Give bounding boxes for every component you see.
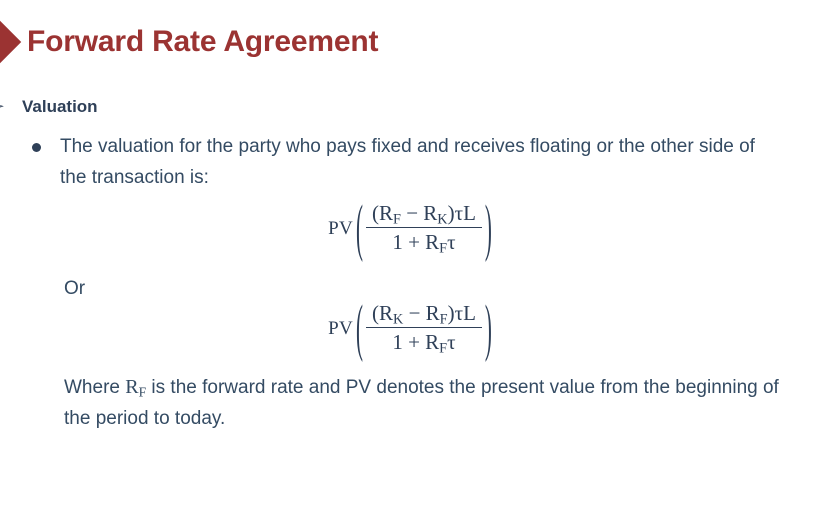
math-denominator: 1 + RFτ — [386, 328, 461, 353]
slide-canvas: { "slide": { "title": "Forward Rate Agre… — [0, 0, 822, 528]
formula-pay-fixed-receive-floating: PV ( (RF − RK)τL 1 + RFτ ) — [0, 203, 822, 253]
denominator-one: 1 — [392, 230, 403, 254]
math-numerator: (RF − RK)τL — [366, 203, 482, 227]
arrow-bullet-icon: ➢ — [0, 99, 8, 115]
numerator-term1-sub: K — [393, 311, 403, 327]
numerator-close-paren: ) — [448, 201, 455, 225]
denominator-one: 1 — [392, 330, 403, 354]
numerator-tau: τ — [455, 201, 463, 225]
connector-or: Or — [64, 274, 85, 305]
math-open-paren: ( — [356, 296, 363, 360]
math-expression: PV ( (RK − RF)τL 1 + RFτ ) — [328, 303, 494, 353]
math-operator-pv: PV — [328, 319, 353, 338]
math-expression: PV ( (RF − RK)τL 1 + RFτ ) — [328, 203, 494, 253]
formula-pay-floating-receive-fixed: PV ( (RK − RF)τL 1 + RFτ ) — [0, 303, 822, 353]
diamond-bullet-icon — [0, 21, 21, 63]
math-fraction: (RK − RF)τL 1 + RFτ — [366, 303, 482, 353]
note-definition: Where RF is the forward rate and PV deno… — [64, 371, 794, 435]
bullet-item-text: The valuation for the party who pays fix… — [60, 132, 772, 194]
numerator-term1-base: R — [379, 301, 393, 325]
bullet-item-valuation-description: The valuation for the party who pays fix… — [32, 132, 772, 194]
numerator-term2-sub: F — [440, 311, 448, 327]
math-denominator: 1 + RFτ — [386, 228, 461, 253]
numerator-term2-sub: K — [437, 211, 447, 227]
denominator-tau: τ — [447, 330, 455, 354]
numerator-tau: τ — [455, 301, 463, 325]
numerator-term2-base: R — [426, 301, 440, 325]
section-heading-label: Valuation — [22, 97, 98, 117]
denominator-rate-base: R — [425, 330, 439, 354]
denominator-rate-base: R — [425, 230, 439, 254]
denominator-plus: + — [408, 330, 420, 354]
denominator-plus: + — [408, 230, 420, 254]
math-operator-pv: PV — [328, 219, 353, 238]
numerator-close-paren: ) — [448, 301, 455, 325]
note-symbol-base: R — [125, 376, 138, 398]
denominator-rate-sub: F — [439, 240, 447, 256]
math-open-paren: ( — [356, 196, 363, 260]
numerator-minus: − — [406, 201, 418, 225]
numerator-term1-base: R — [379, 201, 393, 225]
numerator-minus: − — [409, 301, 421, 325]
numerator-open-paren: ( — [372, 201, 379, 225]
slide-title-row: Forward Rate Agreement — [0, 16, 378, 68]
math-close-paren: ) — [485, 296, 492, 360]
numerator-notional: L — [463, 201, 476, 225]
page-title: Forward Rate Agreement — [27, 27, 378, 57]
math-close-paren: ) — [485, 196, 492, 260]
numerator-open-paren: ( — [372, 301, 379, 325]
note-suffix: is the forward rate and PV denotes the p… — [64, 377, 779, 429]
numerator-term1-sub: F — [393, 211, 401, 227]
math-numerator: (RK − RF)τL — [366, 303, 482, 327]
denominator-rate-sub: F — [439, 340, 447, 356]
numerator-term2-base: R — [423, 201, 437, 225]
denominator-tau: τ — [447, 230, 455, 254]
section-heading-valuation: ➢ Valuation — [0, 94, 98, 120]
round-bullet-icon — [32, 143, 41, 152]
note-symbol: RF — [125, 376, 146, 398]
note-prefix: Where — [64, 377, 125, 398]
numerator-notional: L — [463, 301, 476, 325]
math-fraction: (RF − RK)τL 1 + RFτ — [366, 203, 482, 253]
